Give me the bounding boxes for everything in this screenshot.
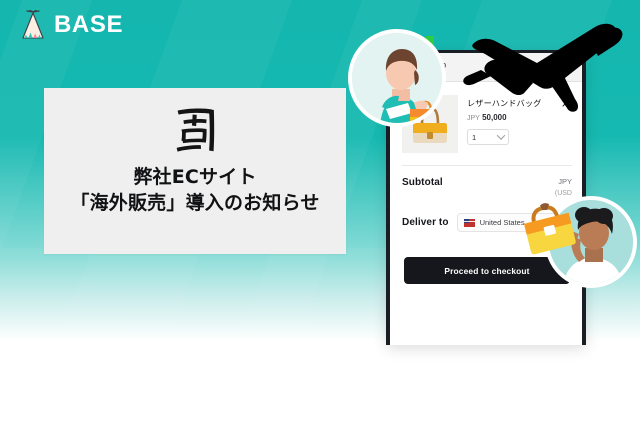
brush-kanji-seal-icon [166, 101, 224, 159]
card-headline-line-1: 弊社ECサイト [133, 165, 256, 190]
brand-name: BASE [54, 13, 123, 37]
subtotal-values: JPY (USD [555, 177, 572, 197]
shopper-illustration [348, 29, 446, 127]
floating-handbag-icon [518, 198, 580, 260]
airplane-silhouette-icon [455, 16, 635, 116]
cart-divider [402, 165, 572, 166]
us-flag-icon [464, 219, 475, 227]
quantity-select[interactable]: 1 [467, 129, 509, 145]
subtotal-jpy: JPY [555, 177, 572, 186]
teepee-icon [19, 10, 47, 40]
brand-logo[interactable]: BASE [19, 10, 123, 40]
quantity-value: 1 [472, 133, 476, 142]
subtotal-label: Subtotal [402, 177, 443, 188]
chevron-down-icon [497, 131, 505, 139]
subtotal-usd: (USD [555, 190, 572, 197]
announcement-card: 弊社ECサイト 「海外販売」導入のお知らせ [44, 88, 346, 254]
deliver-to-label: Deliver to [402, 217, 449, 228]
subtotal-row: Subtotal JPY (USD [402, 177, 572, 197]
card-headline-line-2: 「海外販売」導入のお知らせ [70, 191, 319, 216]
proceed-to-checkout-button[interactable]: Proceed to checkout [404, 257, 570, 284]
cart-item-currency: JPY [467, 115, 480, 122]
screenshot-canvas: BASE 弊社ECサイト 「海外販売」導入のお知らせ shop [0, 0, 640, 426]
